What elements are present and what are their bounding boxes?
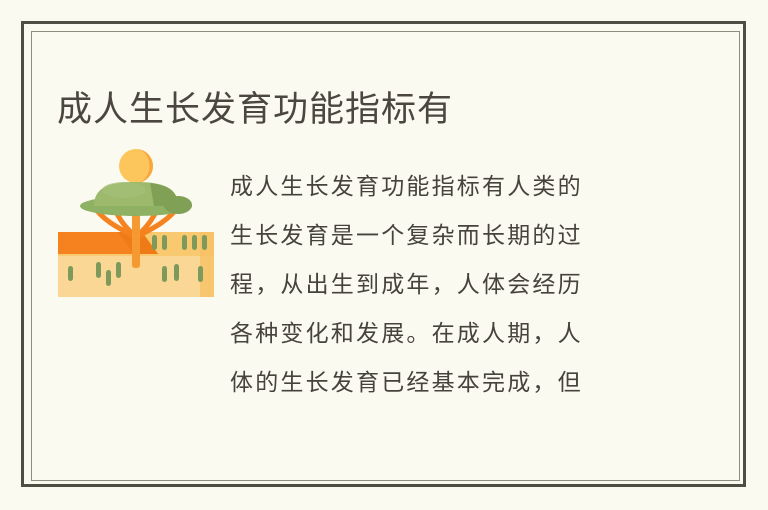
tree-canopy: [80, 182, 192, 216]
body-line: 成人生长发育功能指标有人类的: [230, 163, 650, 212]
page-title: 成人生长发育功能指标有: [57, 87, 697, 133]
body-line: 生长发育是一个复杂而长期的过: [230, 212, 650, 261]
sun-icon: [119, 149, 153, 183]
body-line: 程，从出生到成年，人体会经历: [230, 261, 650, 310]
article-body-text: 成人生长发育功能指标有人类的 生长发育是一个复杂而长期的过 程，从出生到成年，人…: [230, 163, 650, 408]
body-line: 各种变化和发展。在成人期，人: [230, 310, 650, 359]
savanna-tree-illustration: [58, 142, 214, 297]
body-line: 体的生长发育已经基本完成，但: [230, 359, 650, 408]
page-canvas: 成人生长发育功能指标有: [0, 0, 768, 510]
